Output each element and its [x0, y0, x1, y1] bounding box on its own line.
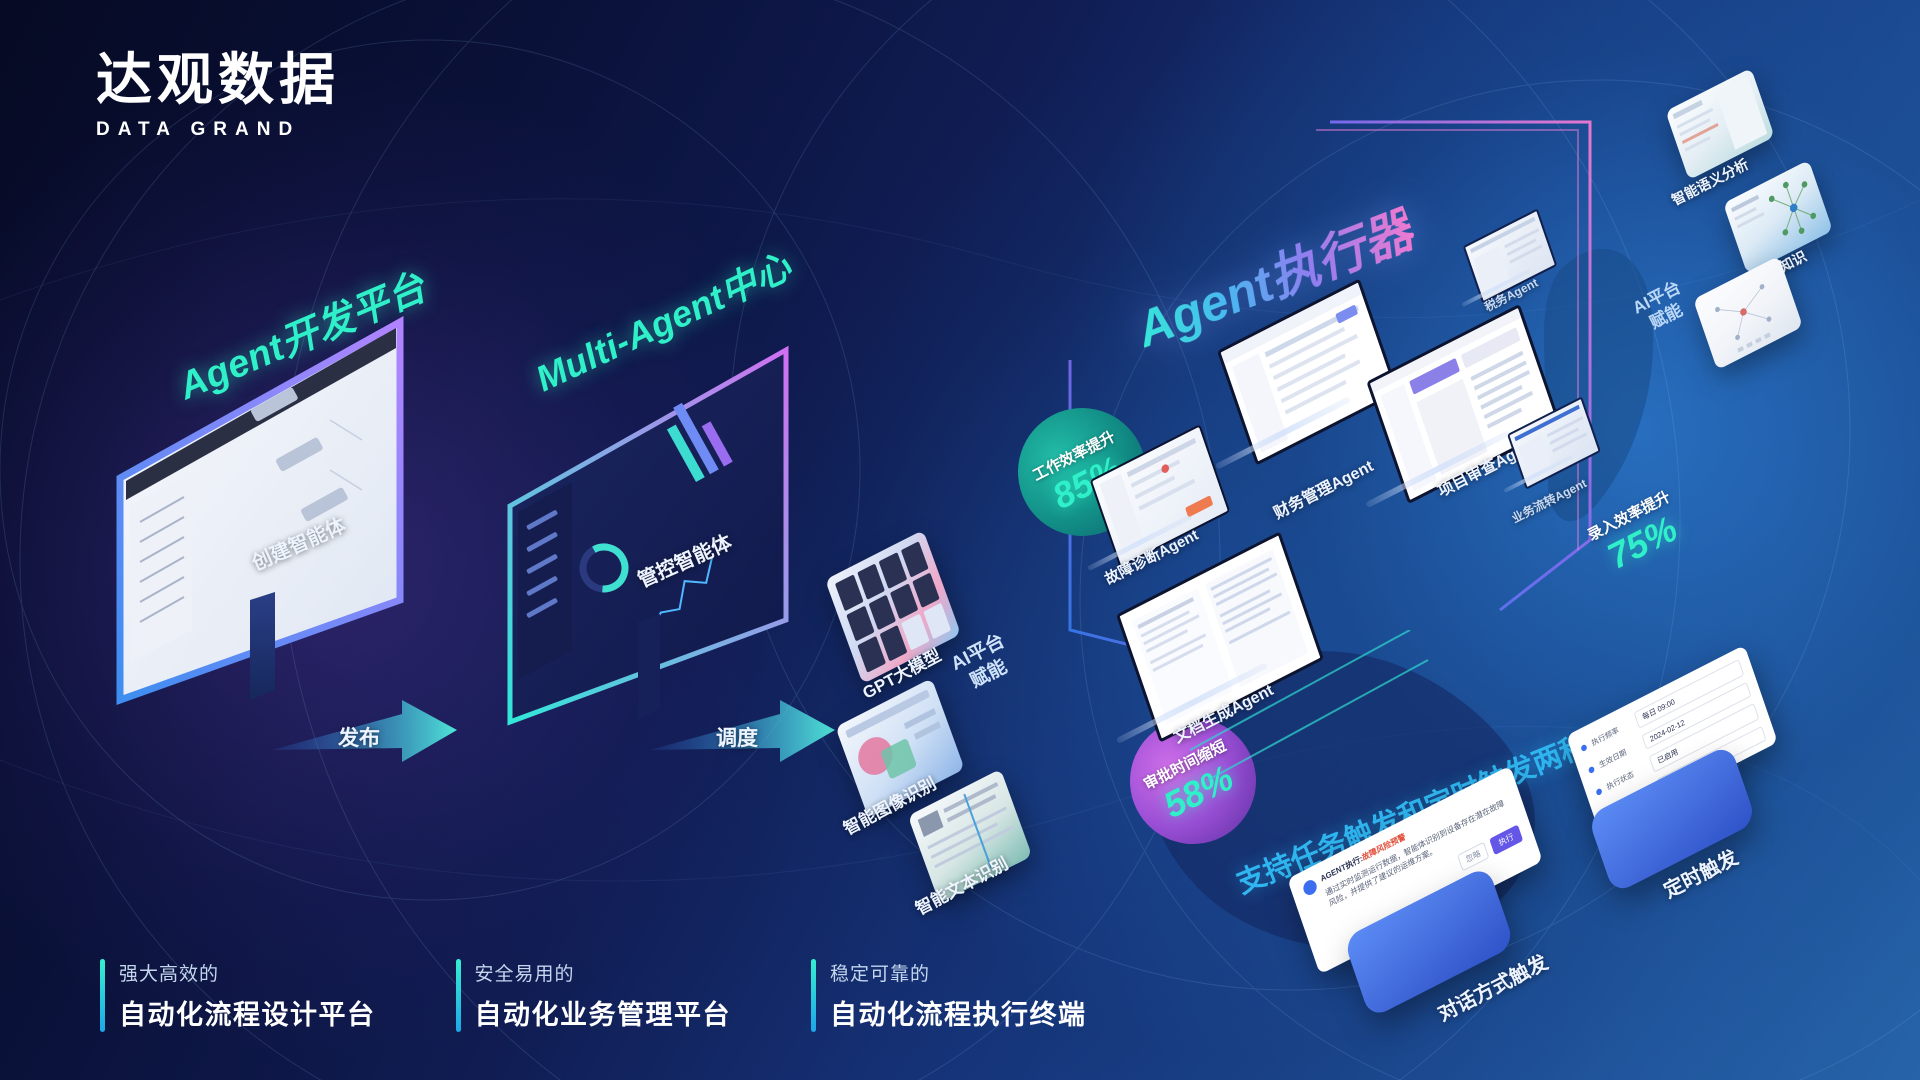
footer-card-3: 稳定可靠的 自动化流程执行终端	[811, 959, 1087, 1032]
agent-avatar-icon	[1301, 878, 1318, 898]
schedule-row-bullet-icon	[1580, 743, 1587, 751]
footer-card-1: 强大高效的 自动化流程设计平台	[100, 959, 376, 1032]
flow-arrow-publish-label: 发布	[338, 722, 380, 752]
schedule-row-bullet-icon	[1588, 765, 1595, 773]
decor-lines	[1190, 630, 1610, 830]
footer-accent-bar-3	[811, 959, 816, 1032]
device-dev-platform	[100, 300, 520, 700]
flow-arrow-schedule-label: 调度	[716, 722, 758, 752]
multi-agent-monitor	[500, 330, 900, 730]
brand-name-en: DATA GRAND	[96, 119, 340, 141]
footer-accent-bar-2	[456, 959, 461, 1032]
footer-title-2: 自动化业务管理平台	[475, 993, 732, 1032]
brand-name-cn: 达观数据	[96, 52, 340, 108]
footer-captions: 强大高效的 自动化流程设计平台 安全易用的 自动化业务管理平台 稳定可靠的 自动…	[100, 959, 1087, 1032]
schedule-row-bullet-icon	[1595, 787, 1602, 795]
footer-eyebrow-1: 强大高效的	[119, 959, 376, 986]
footer-title-3: 自动化流程执行终端	[830, 993, 1087, 1032]
footer-card-2: 安全易用的 自动化业务管理平台	[456, 959, 732, 1032]
poster-canvas: 达观数据 DATA GRAND Agent开发平台	[0, 0, 1920, 1080]
footer-eyebrow-3: 稳定可靠的	[830, 959, 1087, 986]
footer-title-1: 自动化流程设计平台	[119, 993, 376, 1032]
chat-card-action-button[interactable]: 执行	[1489, 824, 1523, 855]
device-multi-agent	[500, 330, 860, 710]
chat-card-secondary-button[interactable]: 忽略	[1457, 841, 1489, 871]
footer-accent-bar-1	[100, 959, 105, 1032]
brand-logo: 达观数据 DATA GRAND	[96, 52, 340, 141]
footer-eyebrow-2: 安全易用的	[475, 959, 732, 986]
